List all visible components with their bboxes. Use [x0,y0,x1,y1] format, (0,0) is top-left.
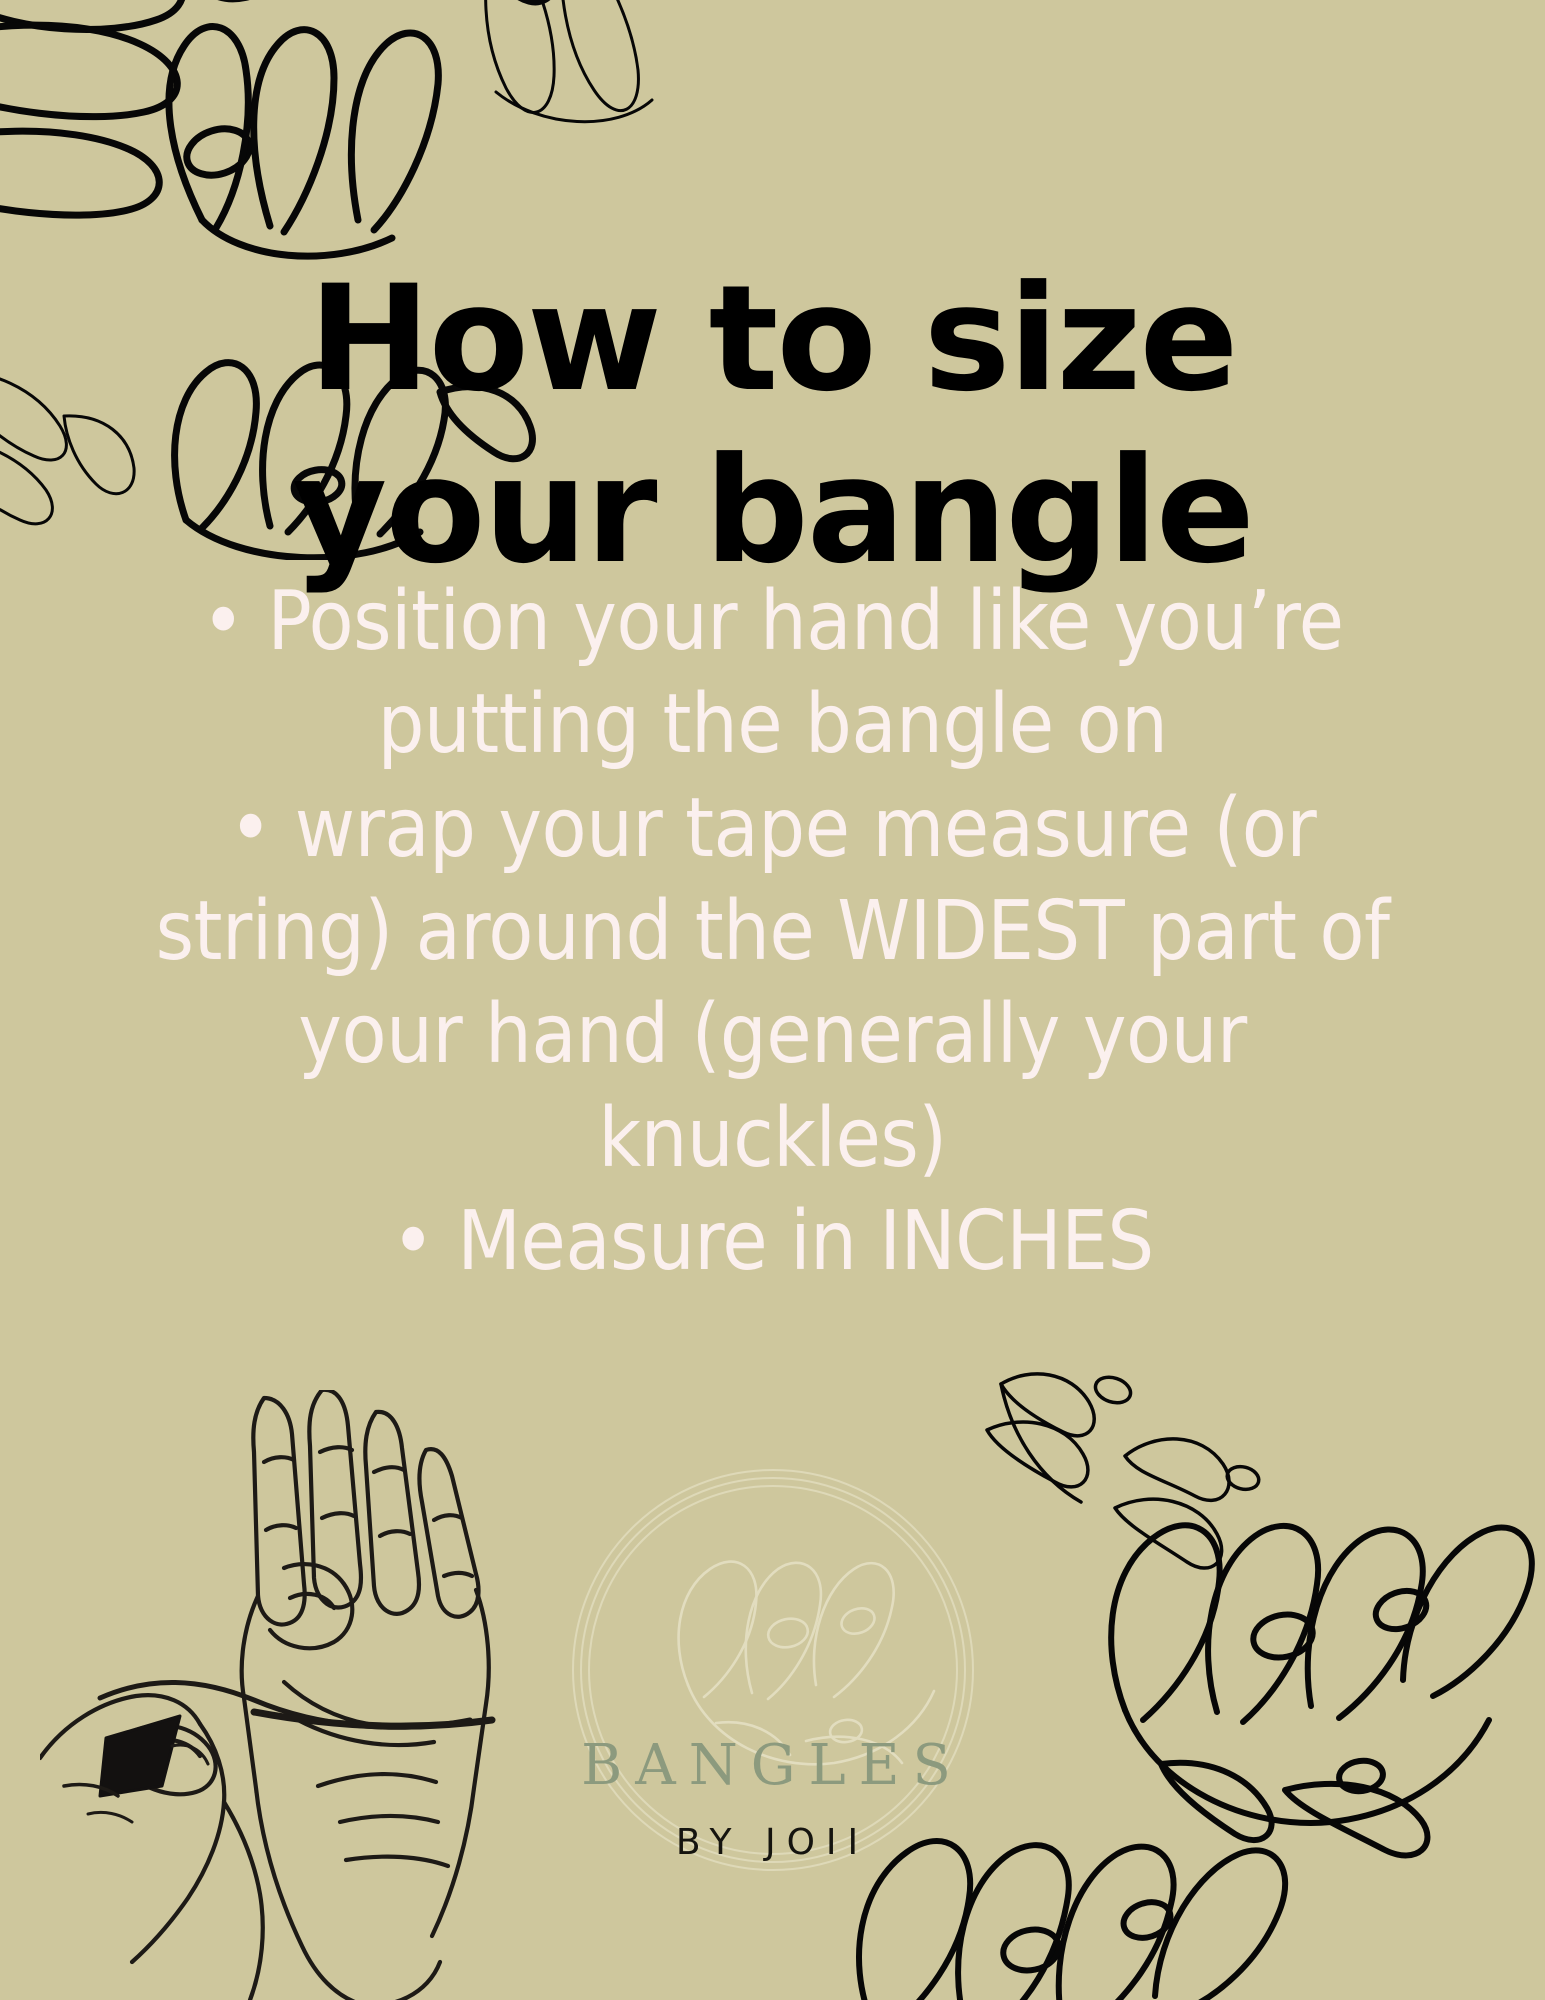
instruction-line: string) around the WIDEST part of [18,880,1527,983]
hand-with-tape-measure-illustration [40,1390,510,2000]
instruction-line: knuckles) [18,1087,1527,1190]
brand-name: BANGLES [0,1735,1545,1797]
title-line-1: How to size [308,254,1236,424]
instruction-line: • Position your hand like you’re [18,570,1527,673]
page-title: How to size your bangle [0,253,1545,598]
monstera-leaf-cluster-bottom-right-icon [825,1360,1545,2000]
instruction-line: your hand (generally your [18,983,1527,1086]
brand-logo: BANGLES BY JOII [0,1735,1545,1862]
instruction-line: putting the bangle on [18,673,1527,776]
brand-tagline: BY JOII [0,1823,1545,1863]
instruction-line: • wrap your tape measure (or [18,777,1527,880]
poster-canvas: How to size your bangle • Position your … [0,0,1545,2000]
instruction-line: • Measure in INCHES [18,1190,1527,1293]
instructions-list: • Position your hand like you’re putting… [0,570,1545,1293]
